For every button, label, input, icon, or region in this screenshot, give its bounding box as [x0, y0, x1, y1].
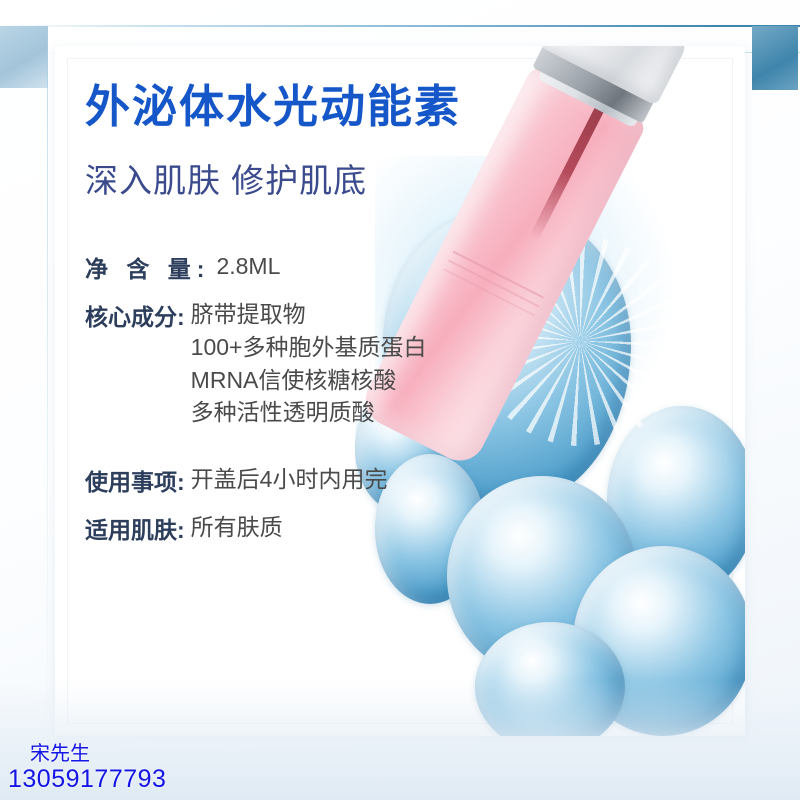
- left-accent-rule: [47, 26, 48, 766]
- corner-block-top-left: [0, 26, 48, 88]
- watermark-phone: 13059177793: [8, 766, 166, 793]
- top-accent-rule: [0, 25, 800, 27]
- spec-value-volume: 2.8ML: [216, 250, 505, 283]
- spec-value-ingredient-4: 多种活性透明质酸: [191, 396, 505, 429]
- spec-value-skin-type: 所有肤质: [191, 511, 505, 544]
- contact-watermark: 宋先生 13059177793: [8, 744, 166, 792]
- product-card: 外泌体水光动能素 深入肌肤 修护肌底 净 含 量: 2.8ML 核心成分: 脐带…: [55, 46, 745, 736]
- spec-row-usage: 使用事项: 开盖后4小时内用完: [85, 463, 505, 497]
- spec-value-ingredient-1: 脐带提取物: [191, 298, 505, 331]
- spec-row-skin-type: 适用肌肤: 所有肤质: [85, 511, 505, 545]
- spec-row-volume: 净 含 量: 2.8ML: [85, 250, 505, 284]
- spec-row-ingredients: 核心成分: 脐带提取物 100+多种胞外基质蛋白 MRNA信使核糖核酸 多种活性…: [85, 298, 505, 429]
- spec-values-usage: 开盖后4小时内用完: [191, 463, 505, 496]
- watermark-name: 宋先生: [30, 744, 166, 765]
- spec-label-usage: 使用事项:: [85, 463, 191, 497]
- spec-values-volume: 2.8ML: [216, 250, 505, 283]
- spec-value-ingredient-2: 100+多种胞外基质蛋白: [191, 331, 505, 364]
- spec-label-ingredients: 核心成分:: [85, 298, 191, 332]
- spec-list: 净 含 量: 2.8ML 核心成分: 脐带提取物 100+多种胞外基质蛋白 MR…: [85, 250, 505, 545]
- page-title: 外泌体水光动能素: [85, 82, 505, 132]
- spec-values-ingredients: 脐带提取物 100+多种胞外基质蛋白 MRNA信使核糖核酸 多种活性透明质酸: [191, 298, 505, 429]
- text-content: 外泌体水光动能素 深入肌肤 修护肌底 净 含 量: 2.8ML 核心成分: 脐带…: [85, 82, 505, 559]
- spec-value-usage: 开盖后4小时内用完: [191, 463, 505, 496]
- corner-block-top-right: [752, 26, 798, 90]
- spec-spacer: [85, 443, 505, 463]
- spec-value-ingredient-3: MRNA信使核糖核酸: [191, 364, 505, 397]
- product-poster: 外泌体水光动能素 深入肌肤 修护肌底 净 含 量: 2.8ML 核心成分: 脐带…: [0, 0, 800, 800]
- spec-label-volume: 净 含 量:: [85, 250, 216, 284]
- spec-label-skin-type: 适用肌肤:: [85, 511, 191, 545]
- page-subtitle: 深入肌肤 修护肌底: [85, 154, 505, 202]
- spec-values-skin-type: 所有肤质: [191, 511, 505, 544]
